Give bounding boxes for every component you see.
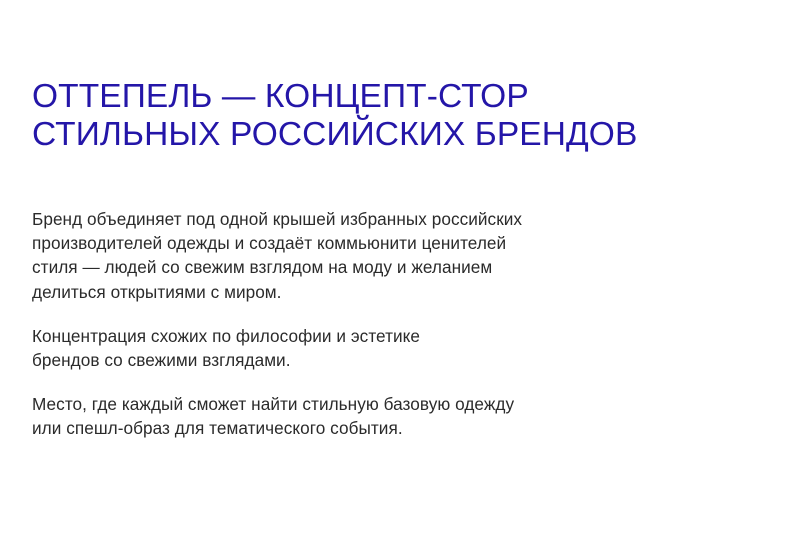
body-paragraph: Концентрация схожих по философии и эстет… [32, 324, 732, 372]
body-paragraph: Бренд объединяет под одной крышей избран… [32, 207, 732, 304]
body-text-block: Бренд объединяет под одной крышей избран… [32, 207, 732, 441]
body-paragraph: Место, где каждый сможет найти стильную … [32, 392, 732, 440]
presentation-slide: ОТТЕПЕЛЬ — КОНЦЕПТ-СТОР СТИЛЬНЫХ РОССИЙС… [0, 0, 796, 544]
page-title: ОТТЕПЕЛЬ — КОНЦЕПТ-СТОР СТИЛЬНЫХ РОССИЙС… [32, 78, 732, 154]
